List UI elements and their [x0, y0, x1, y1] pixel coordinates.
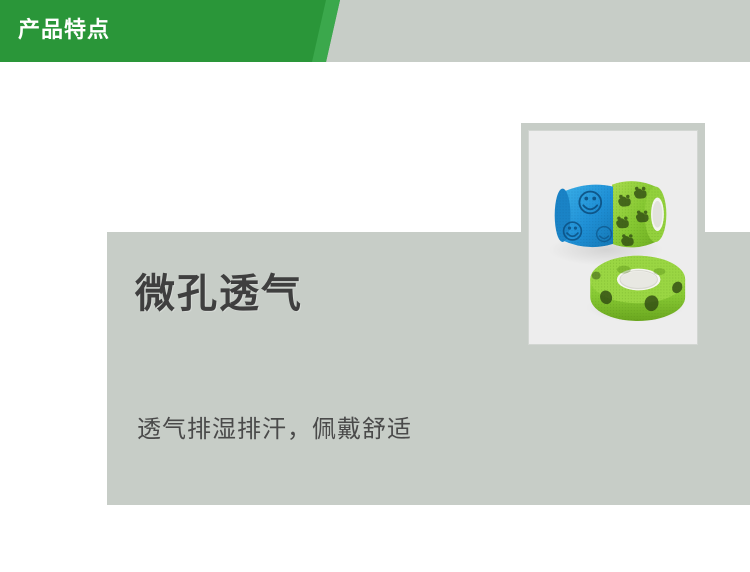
- green-animal-roll: [612, 181, 666, 247]
- section-title: 产品特点: [18, 15, 110, 45]
- slide-root: 产品特点 微孔透气 透气排湿排汗，佩戴舒适: [0, 0, 750, 572]
- bandage-rolls-illustration: [529, 131, 697, 344]
- feature-subtitle: 透气排湿排汗，佩戴舒适: [137, 413, 412, 447]
- green-spot-roll: [590, 256, 685, 321]
- feature-heading: 微孔透气: [135, 268, 303, 320]
- blue-smiley-roll: [555, 185, 613, 247]
- product-photo: [528, 130, 698, 345]
